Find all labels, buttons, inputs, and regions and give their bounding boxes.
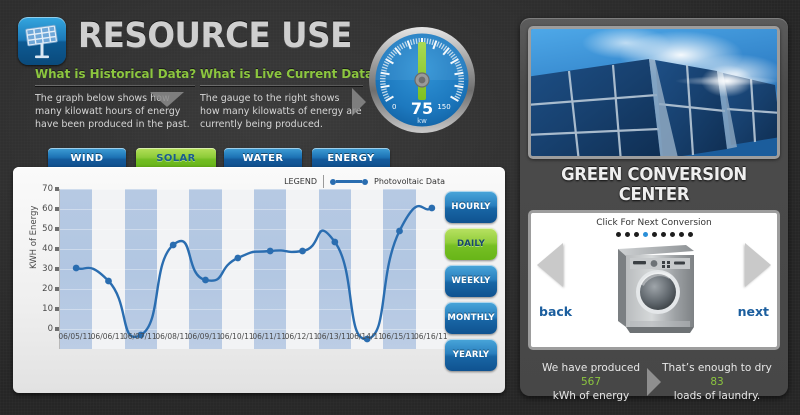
period-button-group[interactable]: HOURLYDAILYWEEKLYMONTHLYYEARLY <box>445 191 497 376</box>
chart-plot-area: 010203040506070 <box>59 189 447 349</box>
green-conversion-center-title: GREEN CONVERSION CENTER <box>536 165 773 205</box>
chevron-down-icon <box>150 92 184 107</box>
data-point[interactable] <box>267 248 274 255</box>
legend-title: LEGEND <box>284 177 317 186</box>
info-column-live-current: What is Live Current Data? The gauge to … <box>200 66 363 131</box>
y-tick-mark <box>55 307 59 311</box>
info-line: how many kilowatts of energy are <box>200 105 363 118</box>
y-tick-mark <box>55 207 59 211</box>
data-point[interactable] <box>299 248 306 255</box>
divider <box>35 85 195 86</box>
info-heading: What is Live Current Data? <box>200 66 355 81</box>
live-power-gauge: 0 150 75 kw <box>368 26 476 134</box>
stat-unit: loads of laundry. <box>654 389 780 403</box>
data-point[interactable] <box>234 255 241 262</box>
data-point[interactable] <box>331 239 338 246</box>
carousel-back-label[interactable]: back <box>539 304 572 319</box>
conversion-caption: Click For Next Conversion <box>531 218 777 228</box>
y-tick-label: 10 <box>42 304 53 314</box>
solar-array-photo <box>528 26 780 159</box>
tab-label: WATER <box>243 153 284 164</box>
legend-swatch <box>330 179 368 185</box>
conversion-stats-bar: We have produced 567 kWh of energy That’… <box>528 356 780 408</box>
left-panel: RESOURCE USE What is Historical Data? Th… <box>0 0 518 415</box>
y-tick-mark <box>55 287 59 291</box>
y-tick-label: 40 <box>42 244 53 254</box>
y-tick-mark <box>55 247 59 251</box>
divider <box>200 85 363 86</box>
stat-value: 567 <box>528 375 654 389</box>
y-tick-label: 30 <box>42 264 53 274</box>
tab-wind[interactable]: WIND <box>48 148 126 169</box>
x-tick-label: 06/12/11 <box>285 332 319 341</box>
x-tick-label: 06/16/11 <box>414 332 448 341</box>
y-tick-mark <box>55 187 59 191</box>
conversion-carousel: Click For Next Conversion <box>528 210 780 350</box>
period-button-label: YEARLY <box>453 350 490 360</box>
tab-solar[interactable]: SOLAR <box>136 148 216 169</box>
solar-panel-icon <box>18 17 66 65</box>
y-tick-label: 0 <box>48 324 53 334</box>
period-button-daily[interactable]: DAILY <box>445 228 497 260</box>
x-tick-label: 06/13/11 <box>317 332 351 341</box>
tab-water[interactable]: WATER <box>224 148 302 169</box>
chevron-right-icon <box>647 368 661 396</box>
svg-text:kw: kw <box>417 117 427 125</box>
info-body: The gauge to the right shows how many ki… <box>200 92 363 131</box>
x-tick-label: 06/11/11 <box>252 332 286 341</box>
stat-unit: kWh of energy <box>528 389 654 403</box>
info-line: have been produced in the past. <box>35 118 195 131</box>
data-point[interactable] <box>396 228 403 235</box>
carousel-back-arrow-icon[interactable] <box>537 243 563 287</box>
x-tick-label: 06/06/11 <box>91 332 125 341</box>
x-tick-label: 06/05/11 <box>58 332 92 341</box>
data-point[interactable] <box>73 265 80 272</box>
x-tick-label: 06/08/11 <box>155 332 189 341</box>
tab-label: ENERGY <box>327 153 374 164</box>
data-point[interactable] <box>202 277 209 284</box>
chart-line-series <box>60 189 448 349</box>
clothes-dryer-icon <box>608 235 700 340</box>
y-tick-label: 50 <box>42 224 53 234</box>
y-tick-mark <box>55 227 59 231</box>
data-point[interactable] <box>428 205 435 212</box>
info-line: The gauge to the right shows <box>200 92 363 105</box>
x-tick-label: 06/15/11 <box>382 332 416 341</box>
x-tick-label: 06/14/11 <box>349 332 383 341</box>
y-tick-mark <box>55 267 59 271</box>
y-tick-mark <box>55 327 59 331</box>
svg-text:150: 150 <box>437 103 450 111</box>
info-heading: What is Historical Data? <box>35 66 187 81</box>
svg-text:75: 75 <box>411 99 433 118</box>
svg-text:0: 0 <box>392 103 396 111</box>
stat-equivalent: That’s enough to dry 83 loads of laundry… <box>654 361 780 403</box>
tab-energy[interactable]: ENERGY <box>312 148 390 169</box>
x-tick-label: 06/07/11 <box>123 332 157 341</box>
stat-label: That’s enough to dry <box>654 361 780 375</box>
carousel-next-label[interactable]: next <box>738 304 769 319</box>
data-point[interactable] <box>105 278 112 285</box>
tab-label: WIND <box>70 153 103 164</box>
info-line: currently being produced. <box>200 118 363 131</box>
x-tick-label: 06/10/11 <box>220 332 254 341</box>
period-button-weekly[interactable]: WEEKLY <box>445 265 497 297</box>
legend-divider <box>323 175 324 188</box>
y-tick-label: 70 <box>42 184 53 194</box>
historical-chart-card: LEGEND Photovoltaic Data 010203040506070… <box>13 167 505 393</box>
series-line <box>76 206 432 339</box>
page-title: RESOURCE USE <box>78 16 352 56</box>
period-button-label: MONTHLY <box>447 313 494 323</box>
period-button-label: WEEKLY <box>451 276 490 286</box>
chart-y-axis-label: KWH of Energy <box>29 206 39 269</box>
period-button-label: DAILY <box>457 239 485 249</box>
period-button-label: HOURLY <box>451 202 490 212</box>
data-point[interactable] <box>170 242 177 249</box>
chart-legend: LEGEND Photovoltaic Data <box>284 175 445 188</box>
stat-label: We have produced <box>528 361 654 375</box>
x-tick-label: 06/09/11 <box>188 332 222 341</box>
y-tick-label: 20 <box>42 284 53 294</box>
green-conversion-panel: GREEN CONVERSION CENTER Click For Next C… <box>520 18 788 396</box>
stat-value: 83 <box>654 375 780 389</box>
period-button-hourly[interactable]: HOURLY <box>445 191 497 223</box>
stat-produced: We have produced 567 kWh of energy <box>528 361 654 403</box>
tab-label: SOLAR <box>156 153 196 164</box>
y-tick-label: 60 <box>42 204 53 214</box>
period-button-yearly[interactable]: YEARLY <box>445 339 497 371</box>
legend-series-label: Photovoltaic Data <box>374 177 445 186</box>
carousel-next-arrow-icon[interactable] <box>745 243 771 287</box>
chevron-right-icon <box>352 88 366 116</box>
period-button-monthly[interactable]: MONTHLY <box>445 302 497 334</box>
